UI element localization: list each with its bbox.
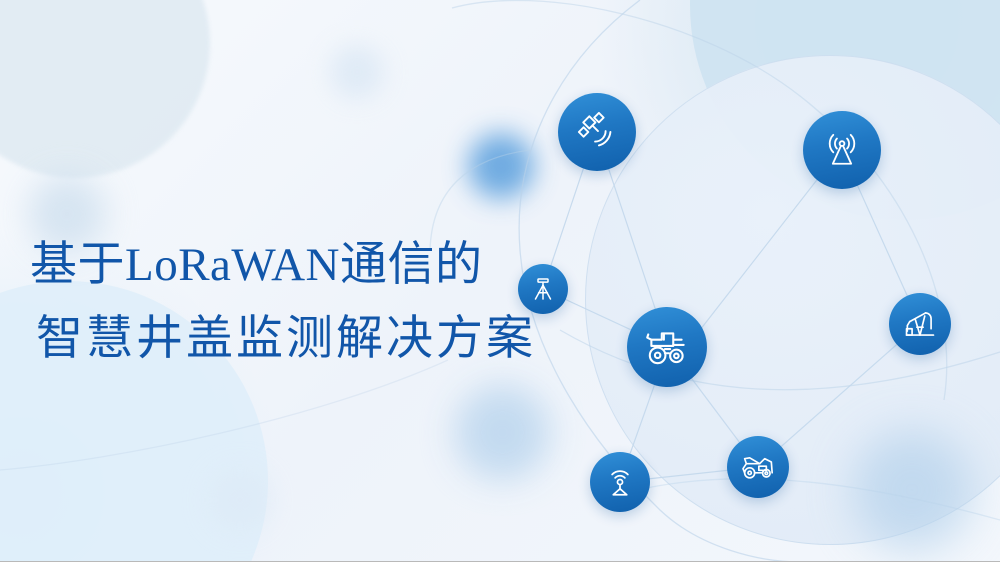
title-slide: 基于LoRaWAN通信的 智慧井盖监测解决方案 bbox=[0, 0, 1000, 562]
wireless-sensor-icon bbox=[602, 464, 638, 500]
title-line-secondary: 智慧井盖监测解决方案 bbox=[30, 302, 570, 376]
node-harvester[interactable] bbox=[727, 436, 789, 498]
node-wireless-sensor[interactable] bbox=[590, 452, 650, 512]
tractor-icon bbox=[642, 322, 692, 372]
harvester-icon bbox=[738, 447, 778, 487]
radio-tower-icon bbox=[820, 128, 864, 172]
title-line-primary: 基于LoRaWAN通信的 bbox=[30, 228, 570, 302]
node-tripod[interactable] bbox=[518, 264, 568, 314]
page-title: 基于LoRaWAN通信的 智慧井盖监测解决方案 bbox=[30, 228, 570, 376]
survey-tripod-icon bbox=[528, 274, 558, 304]
node-satellite[interactable] bbox=[558, 93, 636, 171]
satellite-signal-icon bbox=[574, 109, 620, 155]
node-antenna[interactable] bbox=[803, 111, 881, 189]
node-tractor[interactable] bbox=[627, 307, 707, 387]
node-pumpjack[interactable] bbox=[889, 293, 951, 355]
oil-pumpjack-icon bbox=[901, 305, 939, 343]
